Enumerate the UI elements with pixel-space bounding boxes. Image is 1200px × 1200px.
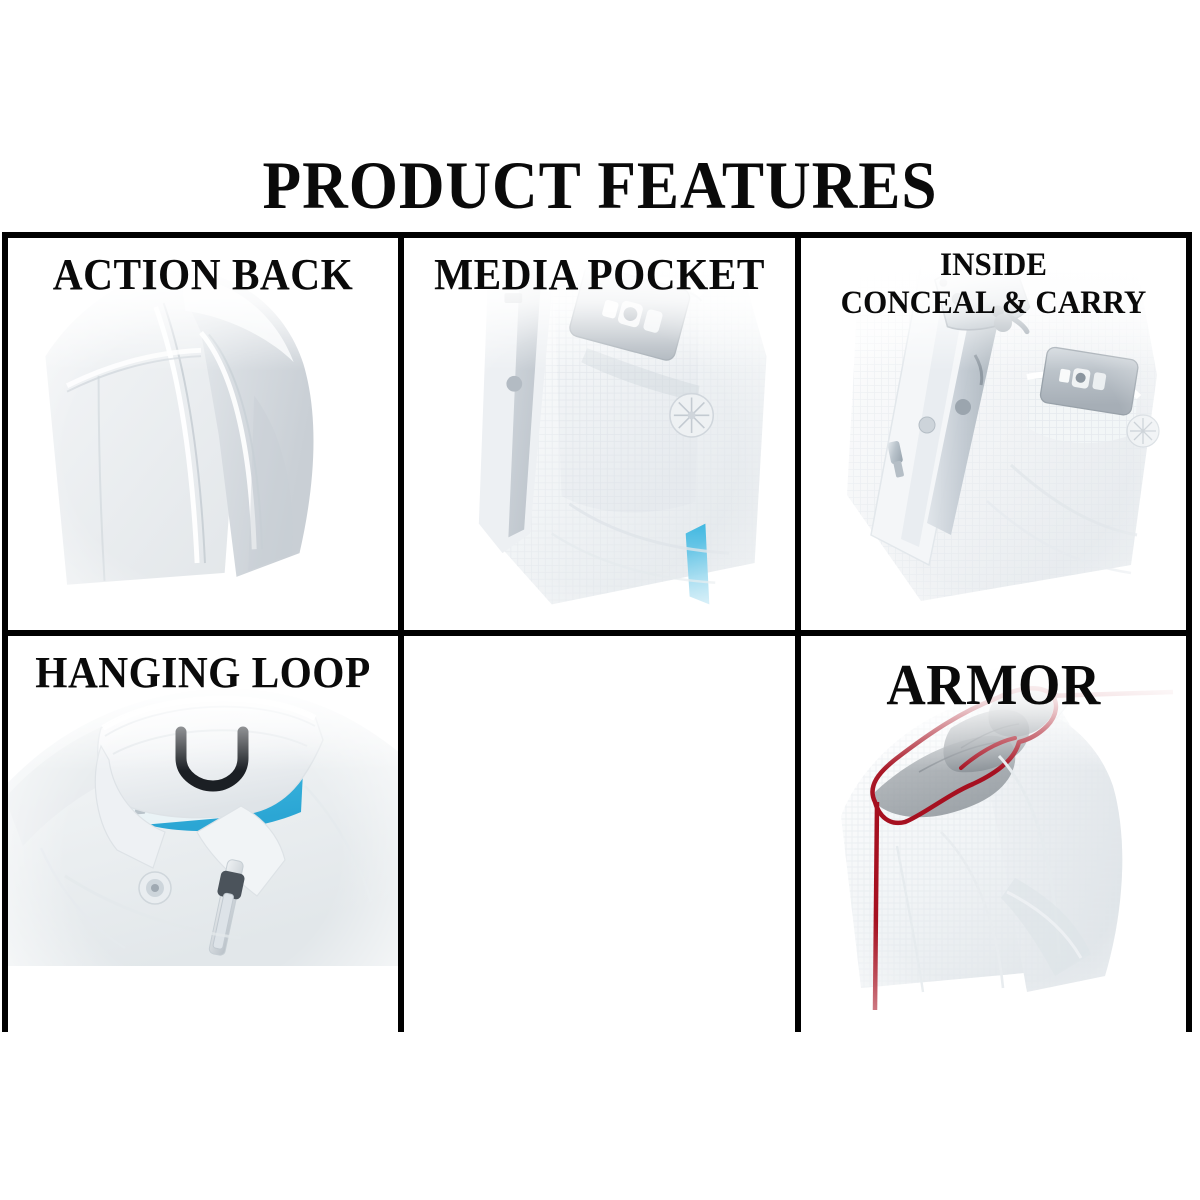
- feature-cell-action-back: ACTION BACK: [8, 238, 404, 636]
- feature-title-action-back: ACTION BACK: [20, 252, 387, 298]
- feature-title-line-1: INSIDE: [940, 247, 1047, 283]
- feature-cell-empty: [404, 636, 801, 1032]
- feature-title-inside-conceal-carry: INSIDE CONCEAL & CARRY: [813, 246, 1175, 322]
- feature-grid: ACTION BACK: [2, 232, 1192, 1032]
- feature-title-armor: ARMOR: [813, 662, 1175, 708]
- feature-cell-media-pocket: MEDIA POCKET: [404, 238, 801, 636]
- page-title: PRODUCT FEATURES: [42, 150, 1158, 220]
- feature-title-hanging-loop: HANGING LOOP: [20, 650, 387, 696]
- feature-title-media-pocket: MEDIA POCKET: [416, 252, 784, 298]
- feature-cell-inside-conceal-carry: INSIDE CONCEAL & CARRY: [801, 238, 1186, 636]
- feature-title-line-2: CONCEAL & CARRY: [813, 284, 1175, 322]
- feature-cell-armor: ARMOR: [801, 636, 1186, 1032]
- feature-cell-hanging-loop: HANGING LOOP: [8, 636, 404, 1032]
